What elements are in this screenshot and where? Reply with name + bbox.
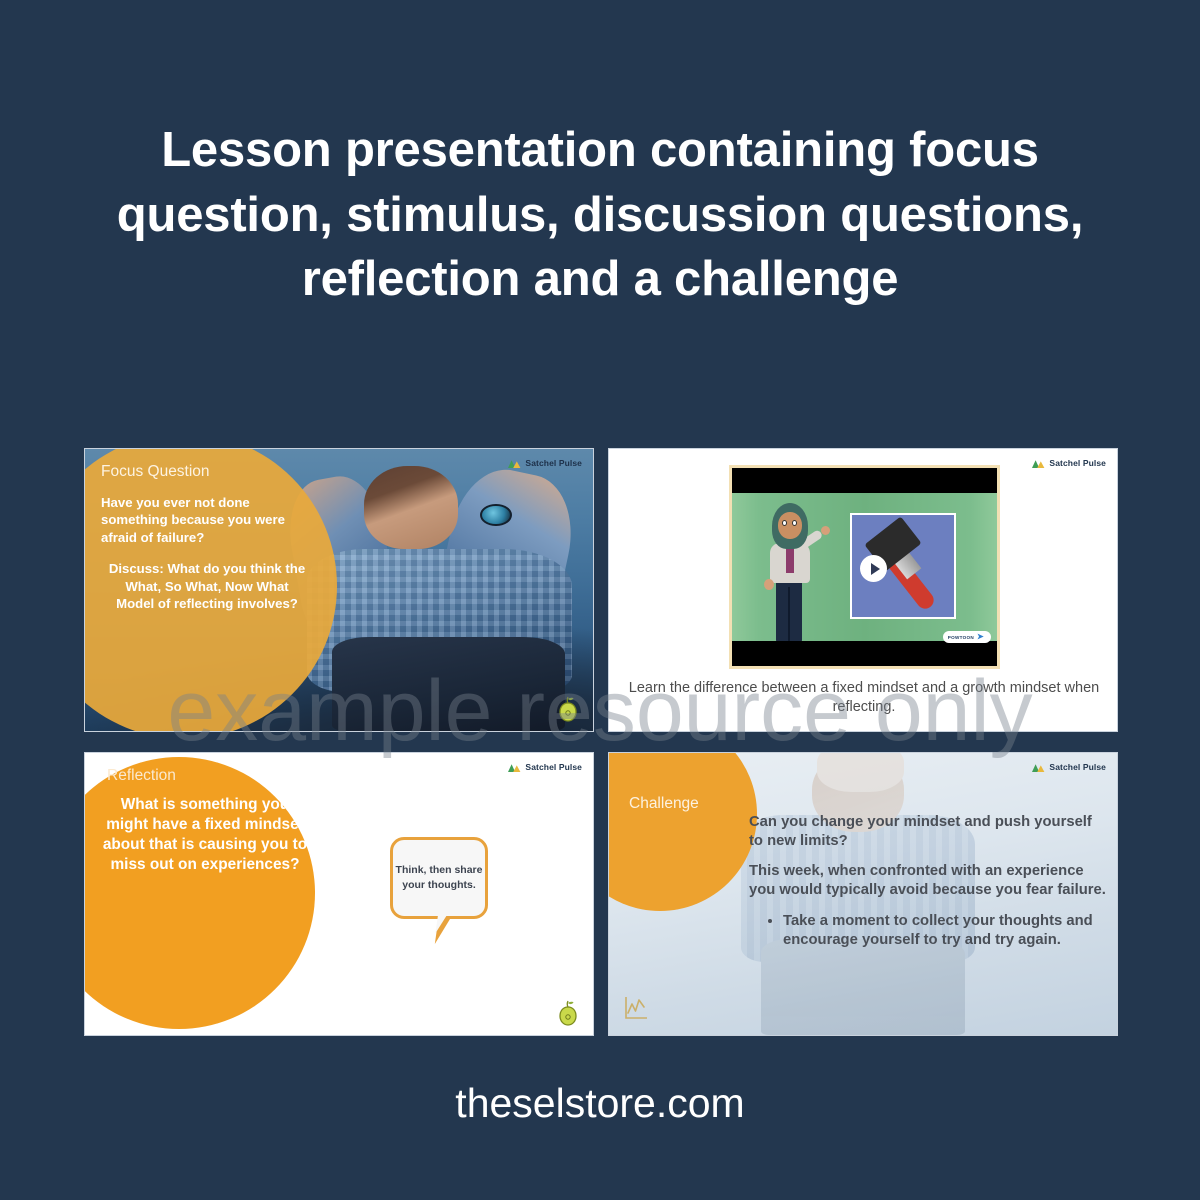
line-chart-icon <box>623 995 649 1021</box>
character-leg-split <box>788 587 790 643</box>
satchel-pulse-logo: Satchel Pulse <box>508 762 582 772</box>
slide-reflection[interactable]: Reflection What is something you might h… <box>84 752 594 1036</box>
mountains-icon <box>1032 763 1045 772</box>
slide-challenge[interactable]: Challenge Can you change your mindset an… <box>608 752 1118 1036</box>
brand-name: Satchel Pulse <box>1049 762 1106 772</box>
slide-thumbnail-grid: Focus Question Have you ever not done so… <box>84 448 1118 1036</box>
challenge-paragraph-1: Can you change your mindset and push you… <box>749 813 1109 851</box>
character-hand-lower <box>764 579 774 590</box>
teacher-character-illustration <box>758 503 820 645</box>
footer-website-url: theselstore.com <box>0 1080 1200 1127</box>
satchel-pulse-logo: Satchel Pulse <box>1032 762 1106 772</box>
slide-kicker-label: Focus Question <box>101 463 313 482</box>
mountains-icon <box>508 459 521 468</box>
play-button-icon[interactable] <box>860 555 887 582</box>
video-thumbnail[interactable]: POWTOON ➤ <box>729 465 1000 669</box>
powtoon-label: POWTOON <box>948 635 974 640</box>
stimulus-caption: Learn the difference between a fixed min… <box>619 679 1109 717</box>
slide-text-block: Reflection What is something you might h… <box>101 767 309 875</box>
letterbox-bar-top <box>732 468 997 493</box>
slide-stimulus-video[interactable]: POWTOON ➤ Learn the difference between a… <box>608 448 1118 732</box>
character-face <box>778 512 802 539</box>
letterbox-bar-bottom <box>732 641 997 666</box>
promo-graphic: Lesson presentation containing focus que… <box>0 0 1200 1200</box>
character-eye-right <box>792 520 797 526</box>
head-shape <box>364 466 458 549</box>
slide-text-block: Focus Question Have you ever not done so… <box>101 463 313 613</box>
challenge-bullet-list: Take a moment to collect your thoughts a… <box>783 911 1109 950</box>
brand-name: Satchel Pulse <box>525 458 582 468</box>
pear-icon <box>557 999 579 1027</box>
powtoon-arrow-icon: ➤ <box>977 633 984 641</box>
mountains-icon <box>508 763 521 772</box>
page-title: Lesson presentation containing focus que… <box>80 118 1120 312</box>
slide-kicker-label: Challenge <box>629 795 699 813</box>
speech-bubble: Think, then share your thoughts. <box>390 837 488 919</box>
legs-shape <box>332 637 565 731</box>
mountains-icon <box>1032 459 1045 468</box>
slide-focus-question[interactable]: Focus Question Have you ever not done so… <box>84 448 594 732</box>
legs-shape <box>761 939 964 1035</box>
focus-discuss-text: Discuss: What do you think the What, So … <box>101 560 313 613</box>
pear-icon <box>557 695 579 723</box>
focus-question-text: Have you ever not done something because… <box>101 494 313 547</box>
character-hand-raised <box>821 526 830 535</box>
brand-name: Satchel Pulse <box>525 762 582 772</box>
powtoon-badge: POWTOON ➤ <box>943 631 991 643</box>
speech-bubble-text: Think, then share your thoughts. <box>393 863 485 892</box>
hands-on-head-shape <box>817 752 903 792</box>
paintbrush-image <box>850 513 956 619</box>
slide-text-block: Can you change your mindset and push you… <box>749 813 1109 950</box>
slide-kicker-label: Reflection <box>101 767 309 785</box>
satchel-pulse-logo: Satchel Pulse <box>1032 458 1106 468</box>
character-eye-left <box>782 520 787 526</box>
satchel-pulse-logo: Satchel Pulse <box>508 458 582 468</box>
animation-stage: POWTOON ➤ <box>732 493 997 647</box>
reflection-question-text: What is something you might have a fixed… <box>101 795 309 875</box>
slide-body: POWTOON ➤ Learn the difference between a… <box>609 449 1117 731</box>
list-item: Take a moment to collect your thoughts a… <box>783 911 1109 950</box>
brand-name: Satchel Pulse <box>1049 458 1106 468</box>
challenge-paragraph-2: This week, when confronted with an exper… <box>749 862 1109 900</box>
